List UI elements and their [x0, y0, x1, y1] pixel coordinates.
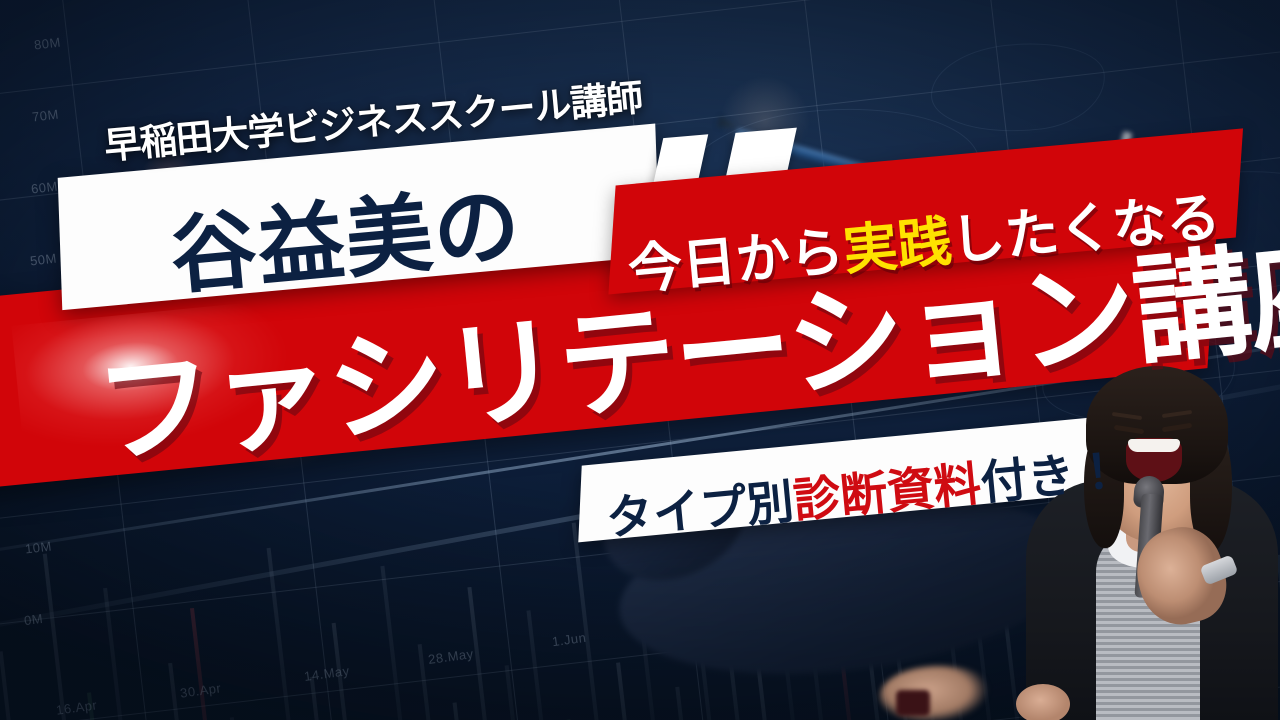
- y-axis-tick: 80M: [33, 35, 61, 53]
- presenter-photo: [1034, 365, 1280, 720]
- bonus-part2: 付き！: [978, 443, 1124, 511]
- blurred-object-lower: [896, 690, 930, 716]
- y-axis-tick: 50M: [29, 251, 57, 269]
- y-axis-tick: 70M: [32, 107, 60, 125]
- y-axis-tick: 60M: [30, 179, 58, 197]
- thumbnail-canvas: 0M10M20M30M40M50M60M70M80M16.Apr30.Apr14…: [0, 0, 1280, 720]
